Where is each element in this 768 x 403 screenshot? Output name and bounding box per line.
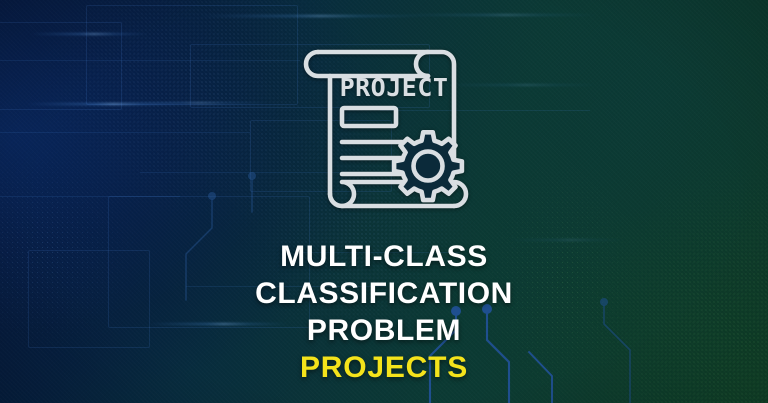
icon-gear	[394, 132, 462, 200]
headline-line-3: PROBLEM	[255, 316, 513, 346]
icon-project-label: PROJECT	[340, 73, 449, 102]
headline-line-2: CLASSIFICATION	[255, 279, 513, 309]
banner-content: PROJECT MULTI-CLASS CLASSIFICATION PROBL…	[0, 0, 768, 403]
project-document-gear-icon: PROJECT	[296, 40, 472, 224]
headline-accent: PROJECTS	[255, 353, 513, 383]
banner-root: PROJECT MULTI-CLASS CLASSIFICATION PROBL…	[0, 0, 768, 403]
headline-line-1: MULTI-CLASS	[255, 242, 513, 272]
icon-filled-bar	[342, 108, 396, 126]
icon-gear-body	[394, 132, 462, 200]
headline-block: MULTI-CLASS CLASSIFICATION PROBLEM PROJE…	[255, 242, 513, 383]
